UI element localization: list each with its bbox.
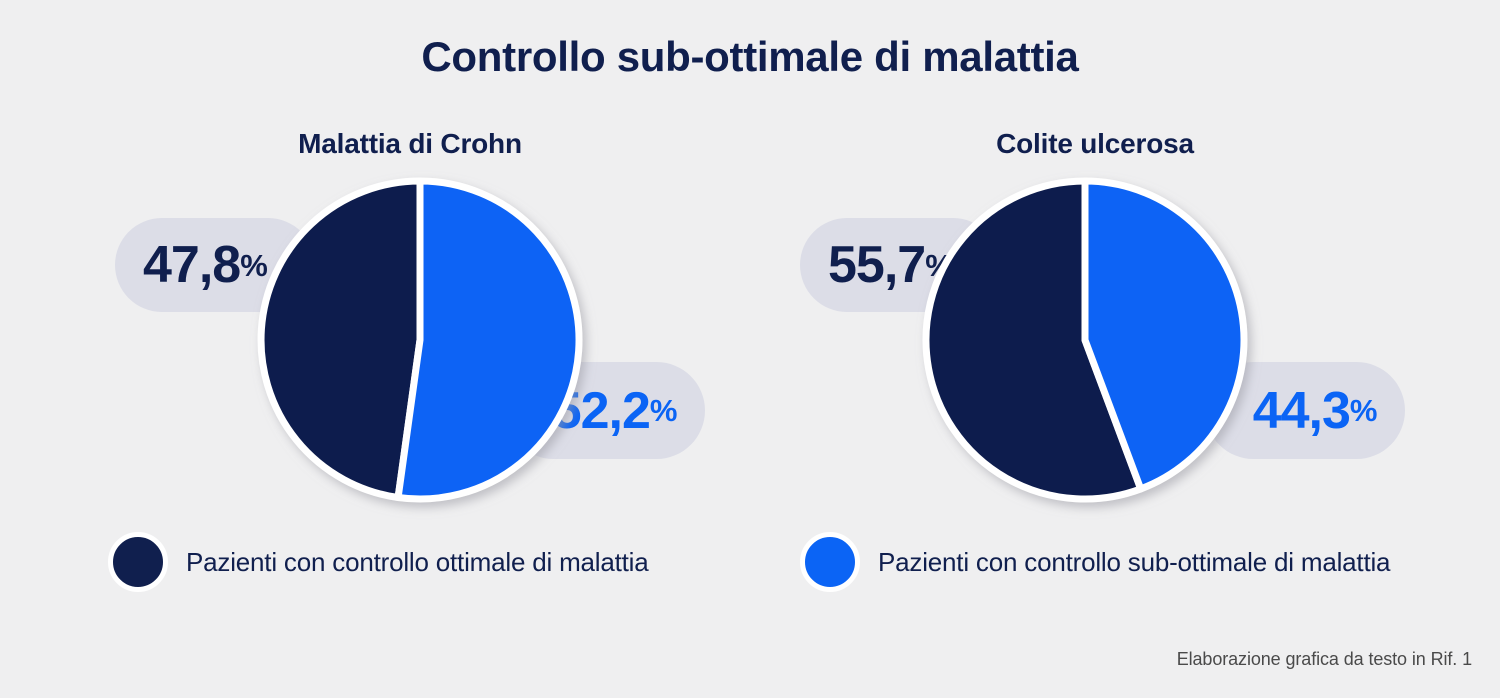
source-footnote: Elaborazione grafica da testo in Rif. 1	[1177, 649, 1472, 670]
pie-chart-crohn	[255, 175, 585, 505]
chart-canvas: Controllo sub-ottimale di malattia Malat…	[0, 0, 1500, 698]
pie-slices-crohn	[261, 181, 579, 499]
value-optimal-crohn: 47,8	[143, 239, 240, 291]
chart-panel-colite: Colite ulcerosa 55,7 % 44,3 %	[720, 0, 1470, 620]
pie-slice-suboptimal-crohn	[398, 181, 579, 499]
legend-swatch-suboptimal-icon	[800, 532, 860, 592]
legend-swatch-optimal-icon	[108, 532, 168, 592]
legend-label-suboptimal: Pazienti con controllo sub-ottimale di m…	[878, 547, 1390, 578]
legend-label-optimal: Pazienti con controllo ottimale di malat…	[186, 547, 649, 578]
panel-title-crohn: Malattia di Crohn	[35, 128, 785, 160]
value-suboptimal-colite: 44,3	[1253, 385, 1350, 437]
pie-chart-colite	[920, 175, 1250, 505]
legend-item-optimal: Pazienti con controllo ottimale di malat…	[108, 532, 649, 592]
percent-sign-suboptimal-colite: %	[1350, 395, 1377, 426]
chart-panel-crohn: Malattia di Crohn 47,8 % 52,2 %	[0, 0, 750, 620]
pie-slices-colite	[926, 181, 1244, 499]
value-optimal-colite: 55,7	[828, 239, 925, 291]
pie-svg-crohn	[255, 175, 585, 505]
pie-slice-optimal-crohn	[261, 181, 420, 497]
percent-sign-suboptimal-crohn: %	[650, 395, 677, 426]
pie-svg-colite	[920, 175, 1250, 505]
panel-title-colite: Colite ulcerosa	[720, 128, 1470, 160]
legend-item-suboptimal: Pazienti con controllo sub-ottimale di m…	[800, 532, 1390, 592]
